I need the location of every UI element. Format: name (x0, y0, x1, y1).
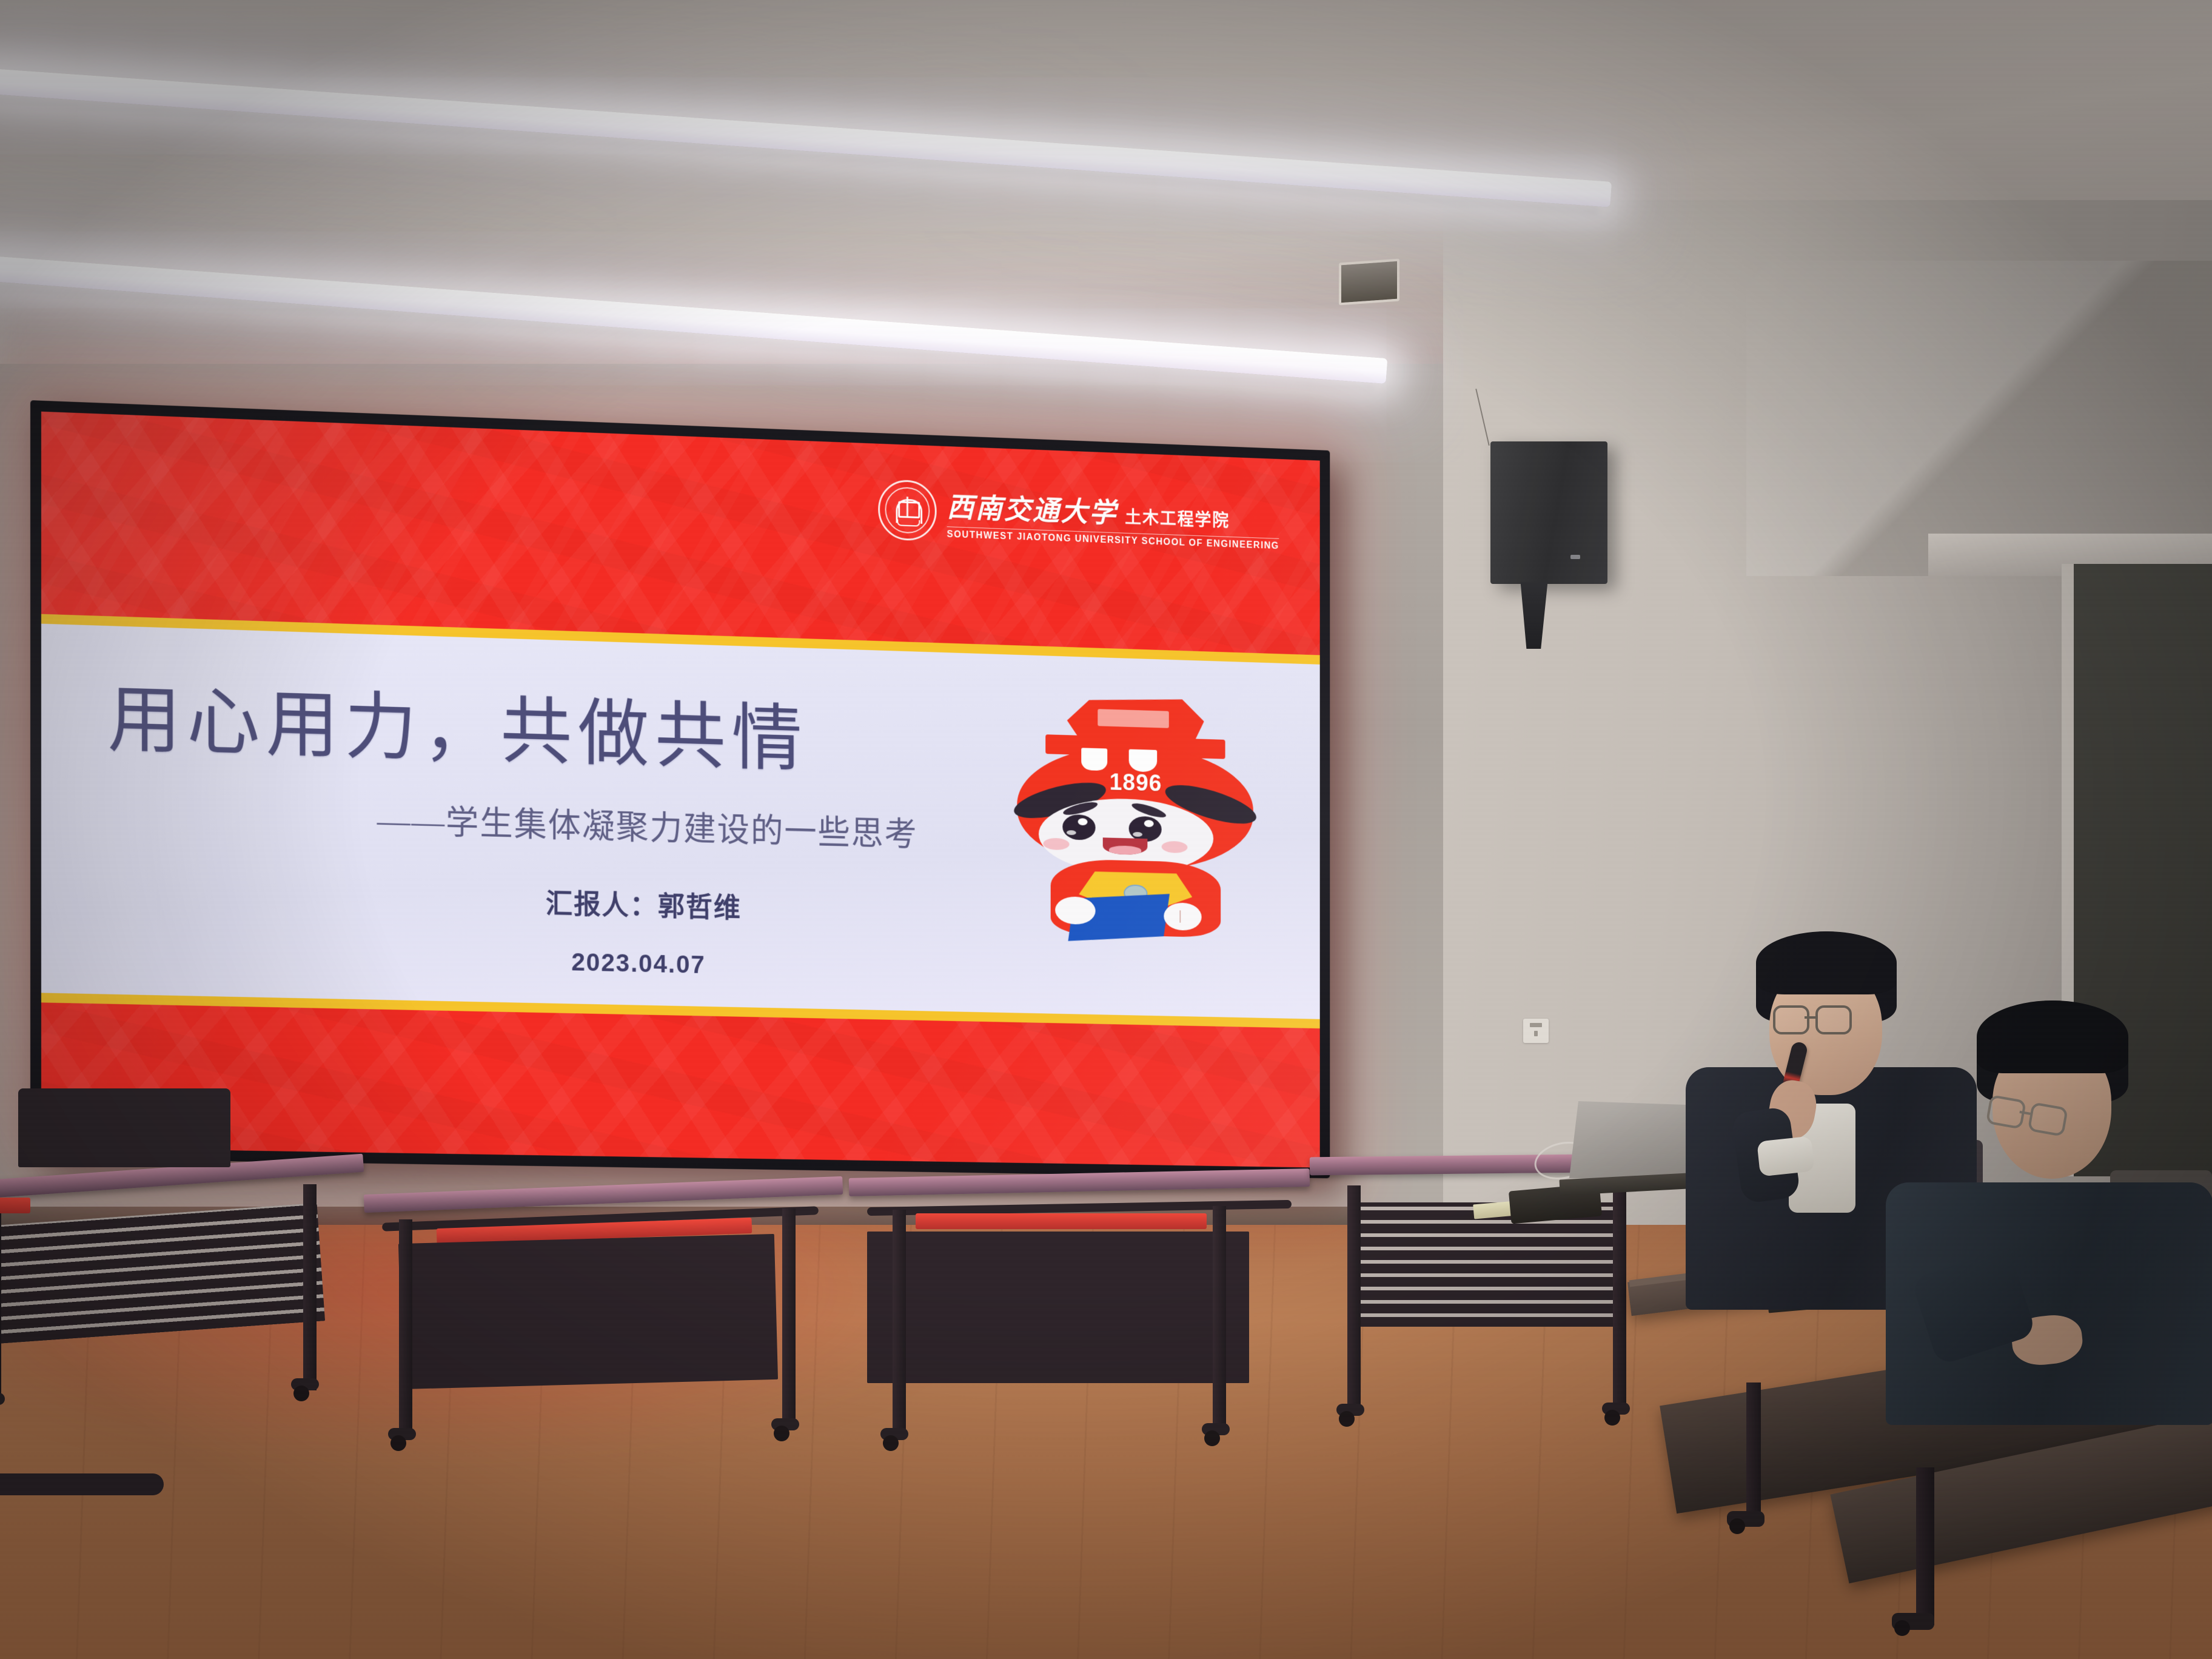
table-leg (782, 1208, 796, 1427)
ceiling-air-vent (1339, 259, 1399, 306)
right-table-caster (1892, 1613, 1934, 1630)
table-red-item (916, 1213, 1207, 1229)
chair-back[interactable] (18, 1088, 230, 1167)
table-leg (1347, 1185, 1361, 1410)
ceiling-soffit-fold (1746, 261, 2212, 576)
speaker-hair-front (1756, 931, 1897, 994)
table-modesty-panel (0, 1203, 325, 1345)
mascot-blush-right-icon (1162, 840, 1188, 853)
table-caster (0, 1393, 5, 1405)
table-row[interactable] (849, 1173, 1310, 1476)
speaker-cuff (1757, 1136, 1815, 1176)
wall-speaker-icon (1490, 441, 1607, 584)
slide-subtitle: ——学生集体凝聚力建设的一些思考 (377, 793, 918, 856)
table-row[interactable] (364, 1185, 843, 1483)
table-caster (291, 1378, 319, 1390)
mascot-tongue-icon (1109, 845, 1141, 854)
mascot-hand-left-icon (1055, 896, 1095, 925)
slide-date: 2023.04.07 (571, 948, 705, 979)
screen-bezel: 西南交通大学 土木工程学院 SOUTHWEST JIAOTONG UNIVERS… (30, 400, 1330, 1178)
table-leg (893, 1210, 906, 1434)
seal-book-icon (897, 520, 920, 527)
mascot-blush-left-icon (1044, 837, 1070, 850)
table-red-item (0, 1198, 30, 1213)
speaker-indicator-icon (1570, 555, 1580, 559)
chair-base[interactable] (0, 1473, 164, 1495)
slide-header: 西南交通大学 土木工程学院 SOUTHWEST JIAOTONG UNIVERS… (41, 412, 1320, 655)
table-leg (1213, 1206, 1226, 1430)
slide-body: 用心用力，共做共情 ——学生集体凝聚力建设的一些思考 汇报人：郭哲维 2023.… (41, 624, 1320, 1019)
right-table-leg (1916, 1467, 1934, 1625)
table-leg (303, 1184, 317, 1390)
wall-power-outlet[interactable] (1523, 1019, 1549, 1043)
table-leg (399, 1219, 412, 1438)
slide-footer (41, 1003, 1320, 1168)
table-row[interactable] (0, 1167, 364, 1446)
led-wall-display[interactable]: 西南交通大学 土木工程学院 SOUTHWEST JIAOTONG UNIVERS… (30, 400, 1330, 1178)
right-table-leg (1746, 1382, 1761, 1522)
slide-title: 用心用力，共做共情 (107, 659, 808, 785)
mascot-illustration: 1896 (1017, 694, 1254, 1042)
school-name-cn: 土木工程学院 (1125, 503, 1230, 532)
table-caster (388, 1428, 416, 1440)
attendee-hair-front (1977, 1000, 2128, 1073)
table-modesty-panel (867, 1232, 1249, 1383)
presentation-slide: 西南交通大学 土木工程学院 SOUTHWEST JIAOTONG UNIVERS… (41, 412, 1320, 1168)
mascot-hat-notch-right-icon (1128, 749, 1157, 772)
room-photo-scene: 西南交通大学 土木工程学院 SOUTHWEST JIAOTONG UNIVERS… (0, 0, 2212, 1659)
person-attendee (1904, 1000, 2195, 1389)
table-caster (1336, 1404, 1364, 1416)
speaker-glasses-icon (1773, 1005, 1880, 1033)
right-table-caster (1727, 1511, 1765, 1527)
table-caster (771, 1418, 799, 1430)
table-caster (880, 1428, 908, 1440)
mascot-hand-right-icon (1164, 902, 1202, 931)
glasses-lens-right-icon (1815, 1005, 1852, 1034)
table-caster (1202, 1423, 1230, 1435)
table-modesty-panel (398, 1234, 778, 1389)
slide-presenter: 汇报人：郭哲维 (546, 882, 742, 925)
table-leg (1613, 1184, 1626, 1409)
footer-pattern (41, 1003, 1320, 1168)
seal-glyph-icon (895, 495, 920, 526)
mascot-hat-notch-left-icon (1081, 748, 1107, 771)
glasses-bridge-icon (1805, 1016, 1815, 1019)
university-name-cn: 西南交通大学 (947, 484, 1118, 531)
glasses-lens-left-icon (1773, 1005, 1809, 1034)
logo-text-block: 西南交通大学 土木工程学院 SOUTHWEST JIAOTONG UNIVERS… (947, 484, 1279, 552)
university-seal-icon (878, 479, 936, 541)
table-modesty-panel (1352, 1202, 1619, 1327)
table-leg (0, 1204, 1, 1404)
table-caster (1602, 1403, 1630, 1415)
mascot-hat-window-icon (1098, 709, 1169, 728)
